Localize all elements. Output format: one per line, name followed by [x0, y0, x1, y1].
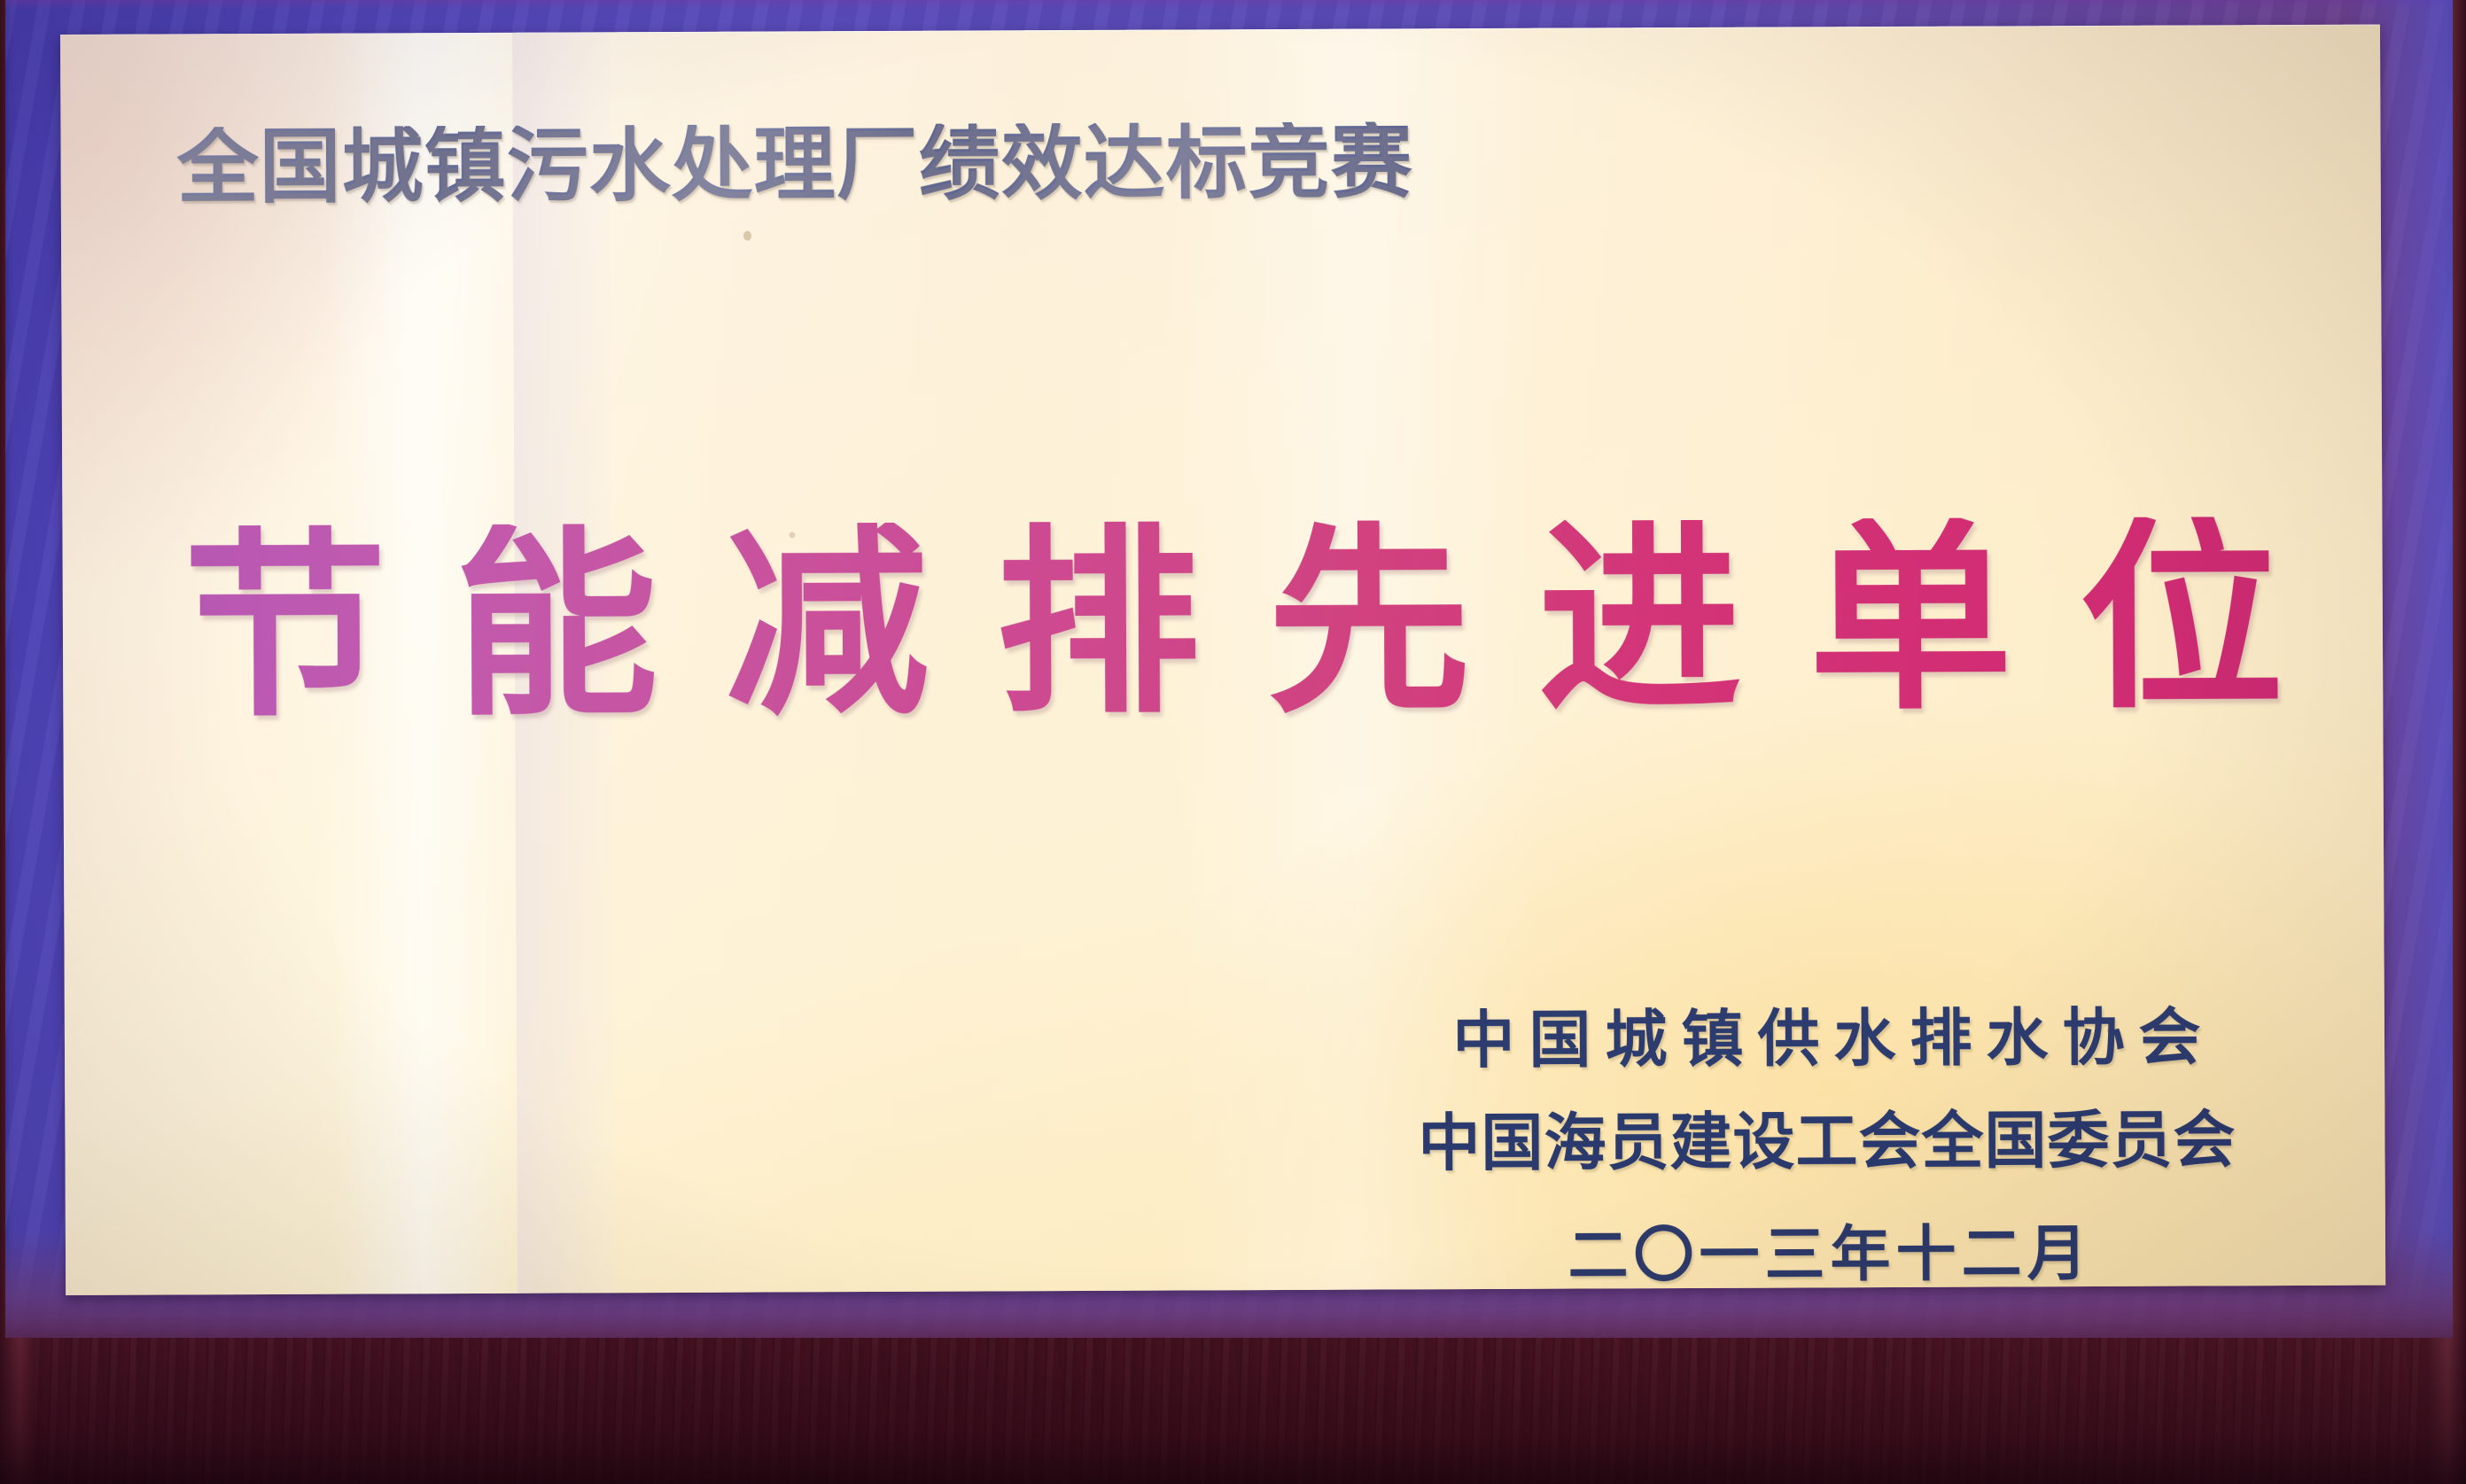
inner-mat-border: 全国城镇污水处理厂绩效达标竞赛 节 能 减 排 先 进 单 位 中国城镇供水排水… [5, 0, 2453, 1338]
award-title-char: 能 [454, 524, 658, 728]
award-title-char: 位 [2079, 517, 2283, 721]
award-title-char: 进 [1537, 519, 1742, 724]
issuer-organization-primary: 中国城镇供水排水协会 [1418, 998, 2236, 1081]
award-sheet: 全国城镇污水处理厂绩效达标竞赛 节 能 减 排 先 进 单 位 中国城镇供水排水… [60, 25, 2385, 1295]
competition-title: 全国城镇污水处理厂绩效达标竞赛 [176, 121, 1412, 208]
issuer-block: 中国城镇供水排水协会 中国海员建设工会全国委员会 二〇一三年十二月 [1418, 998, 2237, 1295]
plaque-content: 全国城镇污水处理厂绩效达标竞赛 节 能 减 排 先 进 单 位 中国城镇供水排水… [60, 25, 2385, 1295]
award-title-char: 减 [725, 523, 930, 727]
mat-top-highlight [5, 0, 2453, 9]
issue-date: 二〇一三年十二月 [1419, 1215, 2237, 1295]
award-title-char: 排 [996, 521, 1201, 726]
award-title: 节 能 减 排 先 进 单 位 [183, 517, 2283, 729]
award-title-char: 节 [183, 524, 387, 729]
wood-frame-bottom-shadow [0, 1316, 2466, 1484]
award-title-char: 先 [1266, 520, 1471, 725]
issuer-organization-secondary: 中国海员建设工会全国委员会 [1418, 1100, 2236, 1184]
award-title-char: 单 [1809, 517, 2013, 722]
plaque-frame: 全国城镇污水处理厂绩效达标竞赛 节 能 减 排 先 进 单 位 中国城镇供水排水… [0, 0, 2466, 1484]
